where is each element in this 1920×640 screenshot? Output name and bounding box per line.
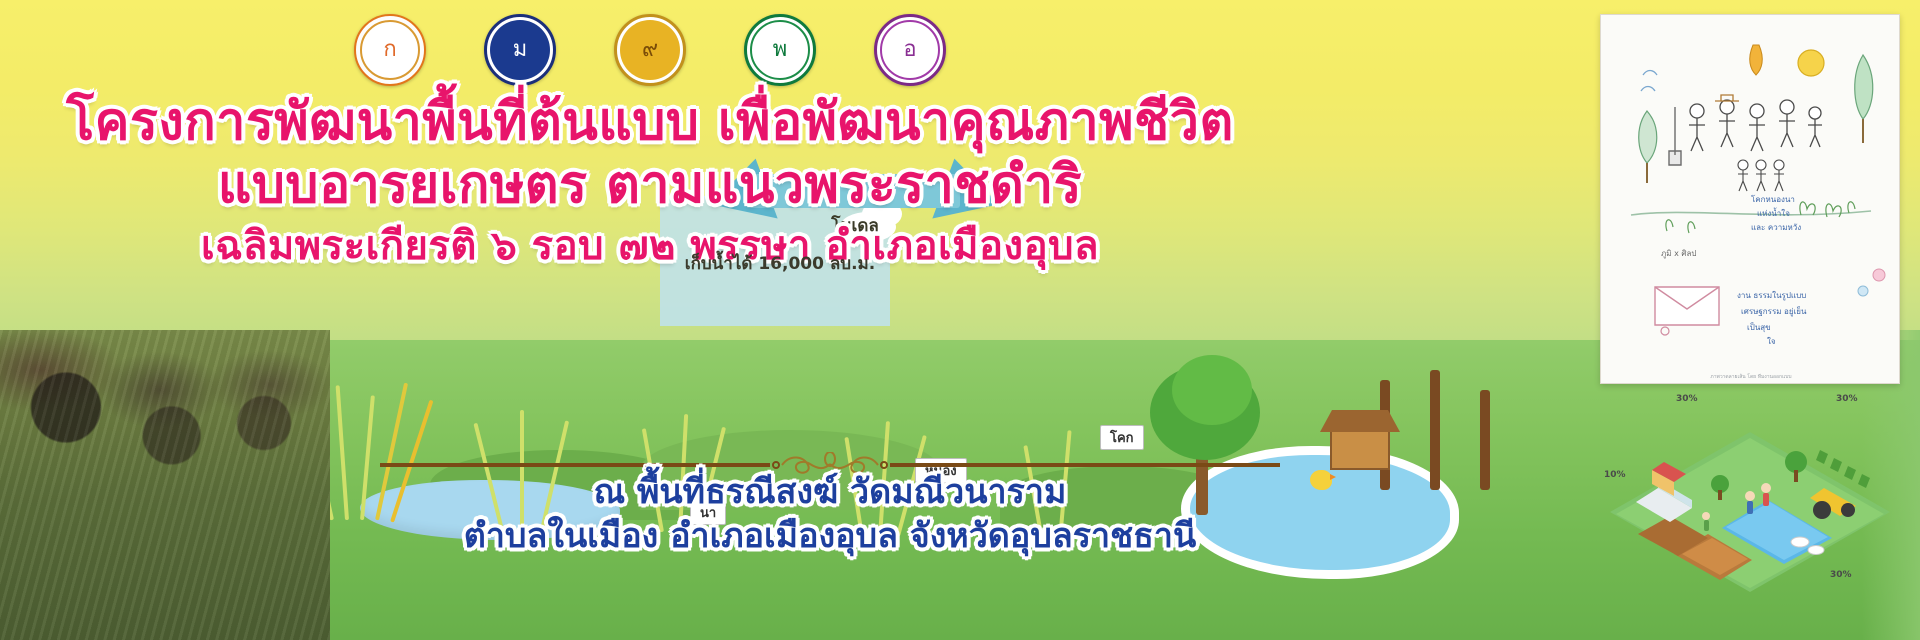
sketch-note-8: ใจ bbox=[1767, 335, 1776, 348]
logo-land-development-department: พ bbox=[744, 14, 816, 86]
sketch-note-6: เศรษฐกรรม อยู่เย็น bbox=[1741, 305, 1806, 318]
pond-capacity-label: เก็บน้ำได้ 16,000 ลบ.ม. bbox=[620, 250, 940, 277]
rice-stalk bbox=[336, 385, 349, 520]
field-hut bbox=[1330, 426, 1390, 470]
logo-ubon-province-glyph: อ bbox=[880, 20, 940, 80]
divider-bar-right bbox=[890, 463, 1280, 467]
tree-trunk bbox=[1480, 390, 1490, 490]
hand-drawn-sketch-card: โคกหนองนา แห่งน้ำใจ และ ความหวัง ภูมิ x … bbox=[1600, 14, 1900, 384]
map-label-khok: โคก bbox=[1100, 425, 1144, 450]
logo-municipality-glyph: ม bbox=[490, 20, 550, 80]
iso-percent-label-1: 30% bbox=[1676, 394, 1698, 404]
sketch-note-4: ภูมิ x ศิลป bbox=[1661, 247, 1696, 260]
field-hut-roof bbox=[1320, 410, 1400, 432]
isometric-farm-illustration: 30% 30% 10% 30% bbox=[1600, 392, 1900, 632]
iso-percent-label-4: 30% bbox=[1830, 570, 1852, 580]
isometric-farm-svg bbox=[1600, 392, 1900, 632]
logo-land-development-glyph: พ bbox=[750, 20, 810, 80]
logo-provincial-agriculture: ก bbox=[354, 14, 426, 86]
location-line-1: ณ พื้นที่ธรณีสงฆ์ วัดมณีวนาราม bbox=[360, 470, 1300, 514]
logo-ubon-province: อ bbox=[874, 14, 946, 86]
logo-row: ก ม ๙ พ อ bbox=[0, 8, 1300, 92]
tree-foliage bbox=[1172, 355, 1252, 425]
farmers-photo bbox=[0, 330, 330, 640]
location-line-2: ตำบลในเมือง อำเภอเมืองอุบล จังหวัดอุบลรา… bbox=[360, 514, 1300, 558]
sketch-note-5: งาน ธรรมในรูปแบบ bbox=[1737, 289, 1806, 302]
sketch-caption: ภาพวาดลายเส้น โดย ทีมงานออกแบบ bbox=[1601, 373, 1900, 381]
divider-bar-left bbox=[380, 463, 770, 467]
sketch-note-2: แห่งน้ำใจ bbox=[1757, 207, 1790, 220]
logo-royal-emblem-glyph: ๙ bbox=[620, 20, 680, 80]
iso-percent-label-3: 10% bbox=[1604, 470, 1626, 480]
tree-trunk bbox=[1430, 370, 1440, 490]
logo-provincial-agriculture-glyph: ก bbox=[360, 20, 420, 80]
title-block: โครงการพัฒนาพื้นที่ต้นแบบ เพื่อพัฒนาคุณภ… bbox=[0, 92, 1300, 270]
sketch-note-7: เป็นสุข bbox=[1747, 321, 1771, 334]
poster-banner: โมเดล เก็บน้ำได้ 16,000 ลบ.ม. ก ม ๙ พ อ … bbox=[0, 0, 1920, 640]
logo-royal-emblem-gold: ๙ bbox=[614, 14, 686, 86]
title-line-2: แบบอารยเกษตร ตามแนวพระราชดำริ bbox=[0, 155, 1300, 216]
location-block: ณ พื้นที่ธรณีสงฆ์ วัดมณีวนาราม ตำบลในเมื… bbox=[360, 470, 1300, 558]
logo-municipality: ม bbox=[484, 14, 556, 86]
title-line-1: โครงการพัฒนาพื้นที่ต้นแบบ เพื่อพัฒนาคุณภ… bbox=[0, 92, 1300, 153]
chick-illustration bbox=[1310, 470, 1332, 490]
sketch-note-3: และ ความหวัง bbox=[1751, 221, 1801, 234]
sketch-note-1: โคกหนองนา bbox=[1751, 193, 1795, 206]
iso-percent-label-2: 30% bbox=[1836, 394, 1858, 404]
